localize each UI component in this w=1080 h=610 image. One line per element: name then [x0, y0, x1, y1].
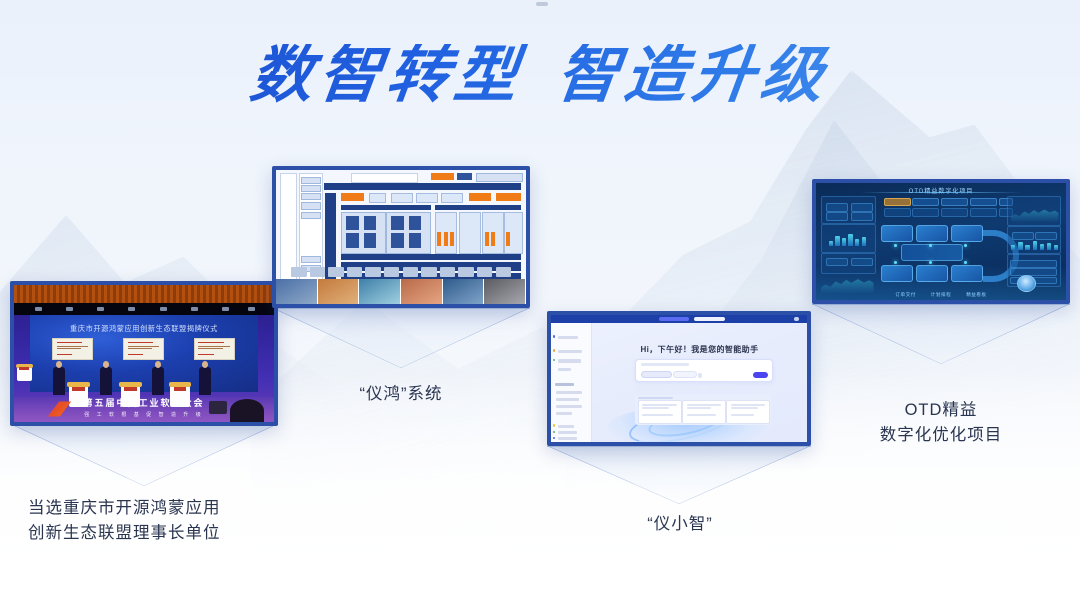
stage-ceiling — [14, 285, 274, 303]
caption-yixiaozhi: “仪小智” — [560, 512, 800, 537]
suggestion-card[interactable] — [682, 400, 725, 424]
quick-action-pills[interactable] — [635, 385, 737, 391]
architecture-icon-row — [291, 267, 511, 276]
led-headline: 重庆市开源鸿蒙应用创新生态联盟揭牌仪式 — [30, 324, 259, 334]
screenshot-yihong-architecture[interactable] — [272, 166, 530, 308]
suggestion-cards-panel — [635, 395, 771, 425]
ai-assistant-ui: Hi，下午好！我是您的智能助手 — [551, 315, 807, 442]
caption-otd: OTD精益 数字化优化项目 — [823, 398, 1059, 448]
light-beam-ceremony — [10, 424, 278, 486]
assistant-prompt-input[interactable] — [635, 359, 773, 381]
send-button[interactable] — [753, 372, 768, 378]
footer-tab: 订单交付 — [895, 292, 915, 298]
screenshot-ceremony-photo[interactable]: 重庆市开源鸿蒙应用创新生态联盟揭牌仪式 第五届中国工业软件大会强 工 软 根 基… — [10, 281, 278, 426]
screenshot-otd-dashboard[interactable]: OTD精益数字化项目 — [812, 179, 1070, 304]
suggestion-card[interactable] — [726, 400, 769, 424]
page-title-right: 智造升级 — [553, 38, 834, 111]
caption-yihong: “仪鸿”系统 — [283, 382, 519, 407]
assistant-greeting: Hi，下午好！我是您的智能助手 — [592, 344, 807, 355]
footer-tab: 计划排程 — [931, 292, 951, 298]
light-beam-yixiaozhi — [547, 446, 811, 504]
presentation-slide: 数智转型智造升级 重庆市开源鸿蒙应用创新生态联盟揭牌仪式 — [0, 0, 1080, 610]
audience-phone — [209, 401, 227, 413]
screenshot-yixiaozhi-assistant[interactable]: Hi，下午好！我是您的智能助手 — [547, 311, 811, 446]
dashboard-title-underline — [861, 192, 1021, 193]
page-title: 数智转型智造升级 — [0, 44, 1080, 106]
dashboard-ui: OTD精益数字化项目 — [816, 183, 1066, 300]
light-beam-otd — [812, 304, 1070, 364]
title-top-mark — [536, 2, 548, 6]
industry-photo-strip — [276, 279, 526, 304]
architecture-diagram — [276, 170, 526, 304]
prompt-placeholder — [641, 363, 690, 365]
page-title-left: 数智转型 — [247, 38, 528, 111]
light-beam-yihong — [272, 308, 530, 368]
assistant-sidebar[interactable] — [551, 323, 592, 442]
audience-head — [230, 399, 264, 422]
footer-tab: 精益看板 — [966, 292, 986, 298]
center-kpi — [901, 244, 963, 261]
dashboard-footer-tabs[interactable]: 订单交付 计划排程 精益看板 — [816, 292, 1066, 298]
stage-truss — [14, 303, 274, 315]
dashboard-title: OTD精益数字化项目 — [816, 186, 1066, 195]
suggestion-card[interactable] — [638, 400, 681, 424]
app-titlebar — [551, 315, 807, 323]
assistant-avatar-icon[interactable] — [1017, 275, 1037, 292]
caption-ceremony: 当选重庆市开源鸿蒙应用 创新生态联盟理事长单位 — [28, 496, 221, 546]
